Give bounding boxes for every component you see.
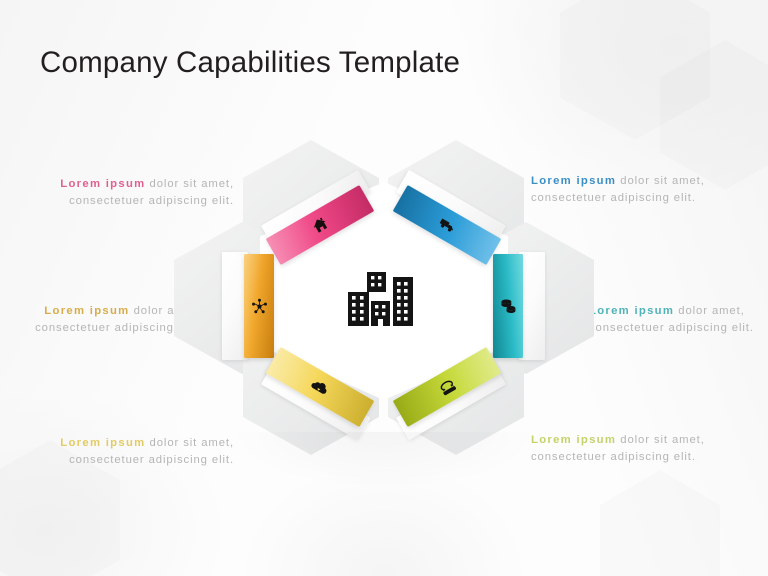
segment-middle-right[interactable] [493, 254, 523, 358]
segment-middle-left[interactable] [244, 254, 274, 358]
text-block-top-left-heading: Lorem ipsum [60, 178, 145, 190]
page-title: Company Capabilities Template [40, 46, 460, 80]
text-block-bottom-left-heading: Lorem ipsum [60, 437, 145, 449]
hexagon-diagram [188, 138, 580, 438]
home-icon [309, 214, 331, 236]
text-block-middle-right: Lorem ipsum dolor amet, consectetuer adi… [589, 303, 765, 337]
background-hex-decor-1 [560, 0, 710, 140]
segment-middle-right-panel[interactable] [493, 254, 523, 358]
text-block-bottom-left: Lorem ipsum dolor sit amet, consectetuer… [22, 435, 234, 469]
diagram-reflection [228, 432, 540, 490]
network-hub-icon [251, 298, 268, 315]
truck-icon [436, 215, 458, 236]
text-block-middle-right-heading: Lorem ipsum [589, 305, 674, 317]
text-block-middle-left: Lorem ipsum dolor amet, consectetuer adi… [6, 303, 200, 337]
segment-middle-left-panel[interactable] [244, 254, 274, 358]
background-hex-decor-4 [600, 470, 720, 576]
text-block-middle-left-heading: Lorem ipsum [44, 305, 129, 317]
telephone-icon [436, 376, 458, 397]
coins-stack-icon [500, 298, 517, 314]
background-hex-decor-2 [660, 40, 768, 190]
city-buildings-icon [346, 270, 422, 333]
cloud-download-icon [309, 376, 332, 397]
center-icon-container [338, 266, 430, 336]
